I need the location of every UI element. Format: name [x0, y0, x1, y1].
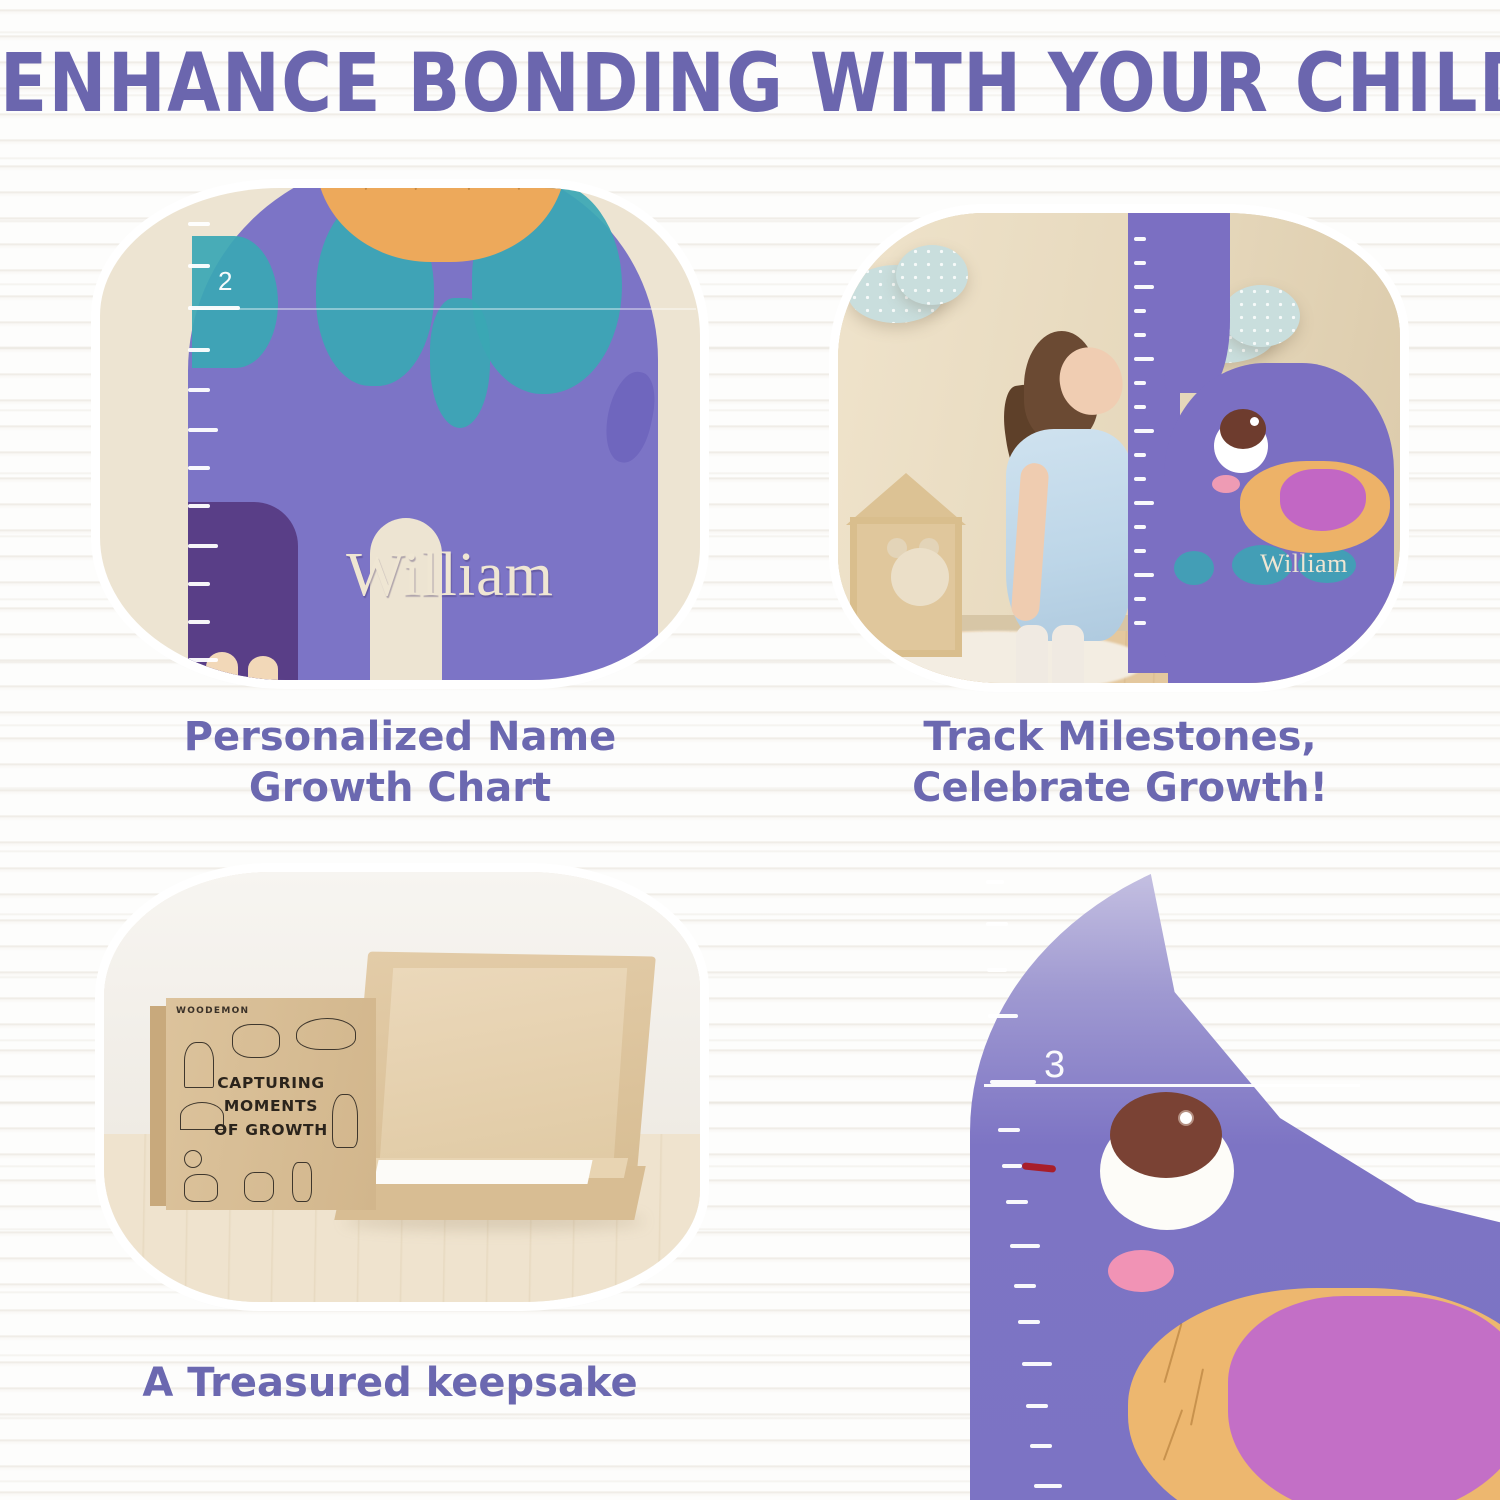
elephant-eye-highlight [1178, 1110, 1194, 1126]
printed-gift-box: WOODEMON CAPTURING MOMENTS OF GROWTH [166, 998, 376, 1210]
doodle-sun-icon [184, 1150, 202, 1168]
doodle-lion-icon [232, 1024, 280, 1058]
child-leg [1052, 625, 1084, 683]
box-tissue-paper [373, 1160, 592, 1184]
packaging-photo: WOODEMON CAPTURING MOMENTS OF GROWTH [104, 872, 700, 1302]
elephant-eye [1220, 409, 1266, 449]
caption-personalized-growth-chart: Personalized Name Growth Chart [100, 712, 700, 814]
elephant-patch [430, 298, 490, 428]
caption-lifestyle-scene: Track Milestones, Celebrate Growth! [840, 712, 1400, 814]
elephant-legs [1168, 643, 1390, 683]
room-photo: William [838, 213, 1400, 683]
wall-growth-chart: William [1128, 213, 1400, 683]
cloud-pillow-icon [896, 245, 968, 305]
panel-packaging: WOODEMON CAPTURING MOMENTS OF GROWTH [104, 872, 700, 1302]
panel-elephant-closeup: 3 [960, 852, 1500, 1500]
personalized-name: William [240, 540, 660, 611]
doodle-dinosaur-icon [296, 1018, 356, 1050]
elephant-foot [248, 656, 278, 680]
personalized-name: William [1214, 549, 1394, 579]
elephant-ear-inner [1228, 1296, 1500, 1500]
height-marker-line [188, 308, 696, 310]
elephant-cheek [1212, 475, 1240, 493]
height-marker-line [984, 1084, 1360, 1087]
height-ruler [970, 852, 1030, 1500]
doodle-cat-icon [244, 1172, 274, 1202]
page-title: ENHANCE BONDING WITH YOUR CHILD [0, 37, 1500, 131]
elephant-eye [1110, 1092, 1222, 1178]
box-lid-inner [379, 968, 627, 1174]
house-shelf [850, 517, 962, 657]
caption-packaging: A Treasured keepsake [80, 1358, 700, 1409]
elephant-foot [206, 652, 238, 680]
elephant-patch [1174, 551, 1214, 585]
box-headline: CAPTURING MOMENTS OF GROWTH [166, 1072, 376, 1142]
doodle-palm-icon [292, 1162, 312, 1202]
product-infographic: ENHANCE BONDING WITH YOUR CHILD [0, 0, 1500, 1500]
height-marker-label: 2 [218, 266, 232, 297]
panel-personalized-growth-chart: 2 William [100, 188, 700, 680]
child-leg [1016, 625, 1048, 683]
doodle-dog-icon [184, 1174, 218, 1202]
elephant-cheek [1108, 1250, 1174, 1292]
panel-lifestyle-scene: William [838, 213, 1400, 683]
brand-logo: WOODEMON [176, 1006, 249, 1016]
height-marker-label: 3 [1044, 1044, 1065, 1087]
teddy-bear-icon [891, 548, 949, 606]
growth-chart-artwork: 2 William [100, 188, 700, 680]
elephant-eye-highlight [1250, 417, 1259, 426]
elephant-trunk [1164, 213, 1230, 393]
